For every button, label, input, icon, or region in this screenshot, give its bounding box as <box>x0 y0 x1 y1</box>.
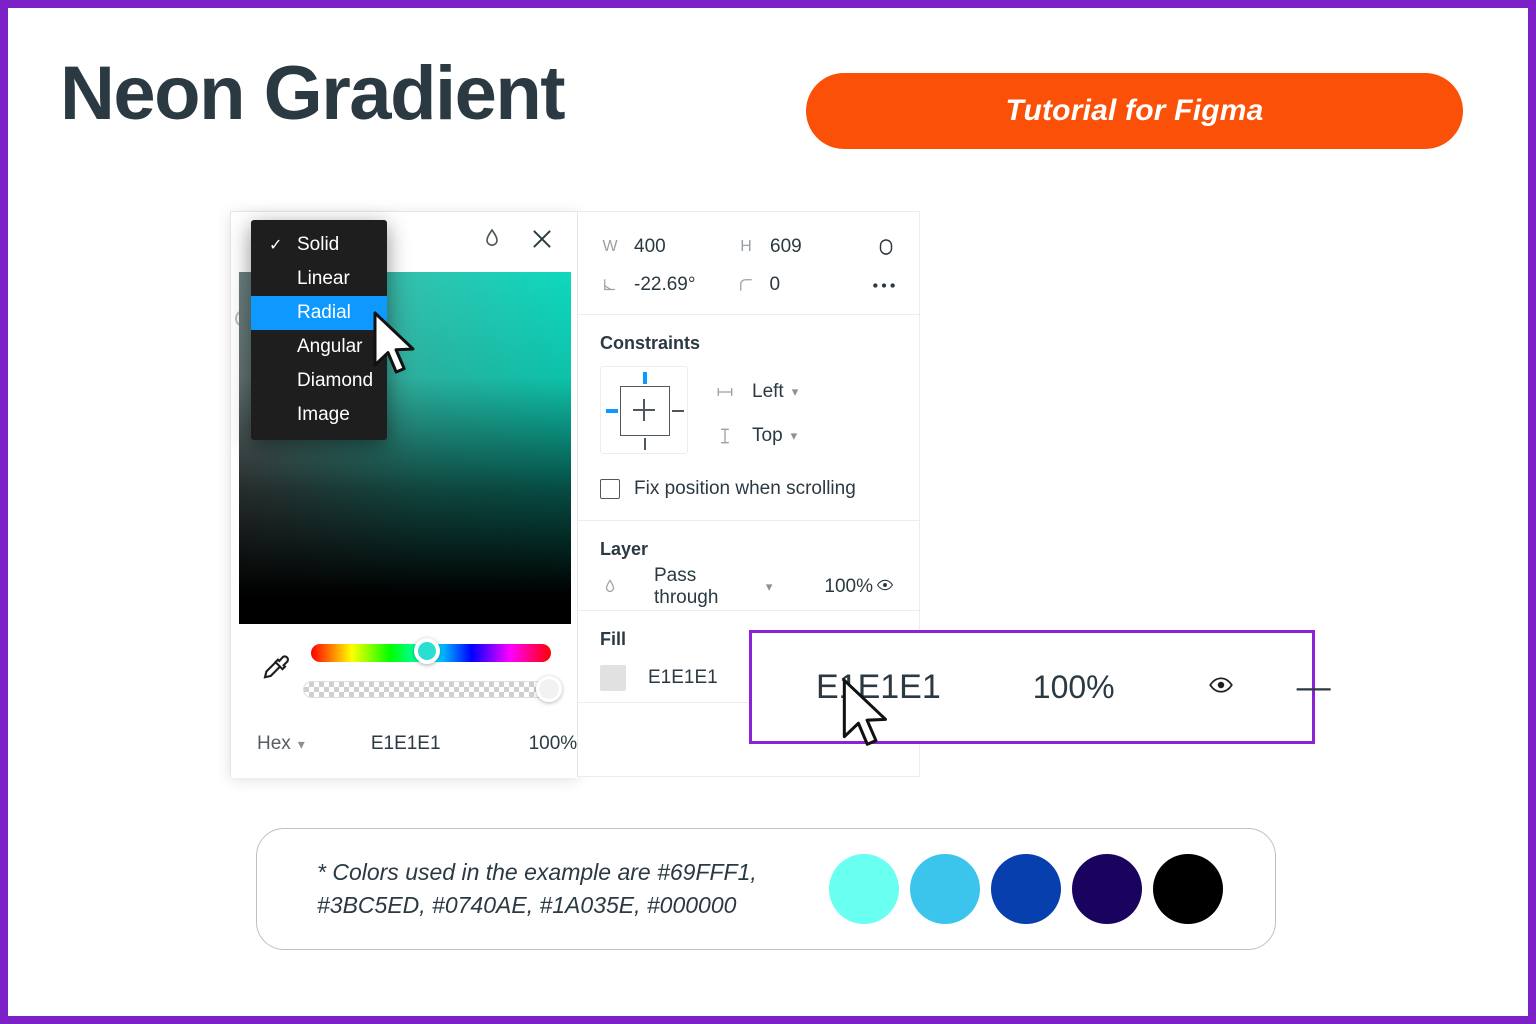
footnote-swatch-2 <box>910 854 980 924</box>
vertical-constraint-icon <box>714 426 736 446</box>
constraint-marker-right[interactable] <box>672 410 684 412</box>
header: Neon Gradient Tutorial for Figma <box>8 8 1528 188</box>
size-section: W 400 H 609 <box>578 212 919 315</box>
layer-title: Layer <box>578 521 919 564</box>
zoom-callout: E1E1E1 100% — <box>749 630 1315 744</box>
menu-item-image[interactable]: Image <box>251 398 387 432</box>
more-options-icon[interactable] <box>871 281 897 290</box>
rotation-row: -22.69° 0 <box>578 266 919 304</box>
corner-radius-icon <box>736 275 756 295</box>
color-picker-controls: Hex ▾ E1E1E1 100% <box>231 624 577 778</box>
alpha-slider-handle[interactable] <box>536 676 562 702</box>
eye-icon[interactable] <box>1203 672 1239 703</box>
fix-position-row[interactable]: Fix position when scrolling <box>578 474 919 520</box>
check-icon: ✓ <box>269 235 282 255</box>
fill-swatch[interactable] <box>600 665 626 691</box>
hue-slider-handle[interactable] <box>414 638 440 664</box>
constraints-body: Left ▾ Top ▾ <box>578 358 919 474</box>
mouse-cursor-icon <box>840 677 892 753</box>
rotation-icon <box>600 275 620 295</box>
width-icon: W <box>600 237 620 257</box>
fill-hex-value[interactable]: E1E1E1 <box>648 667 718 689</box>
constraint-marker-top[interactable] <box>643 372 647 384</box>
width-field[interactable]: W 400 <box>600 236 736 258</box>
height-value[interactable]: 609 <box>770 236 802 258</box>
eyedropper-icon[interactable] <box>261 652 291 684</box>
footnote-box: * Colors used in the example are #69FFF1… <box>256 828 1276 950</box>
menu-item-label: Angular <box>297 336 363 358</box>
droplet-icon[interactable] <box>480 224 504 252</box>
menu-item-label: Image <box>297 404 350 426</box>
hex-input-row: Hex ▾ E1E1E1 100% <box>231 724 577 764</box>
menu-item-angular[interactable]: Angular <box>251 330 387 364</box>
height-field[interactable]: H 609 <box>736 236 872 258</box>
constrain-proportions-icon[interactable] <box>875 236 897 258</box>
size-row: W 400 H 609 <box>578 228 919 266</box>
corner-radius-value[interactable]: 0 <box>770 274 781 296</box>
hex-value[interactable]: E1E1E1 <box>371 733 441 755</box>
alpha-slider[interactable] <box>303 681 551 698</box>
page-root: Neon Gradient Tutorial for Figma <box>0 0 1536 1024</box>
height-icon: H <box>736 237 756 257</box>
menu-item-solid[interactable]: ✓ Solid <box>251 228 387 262</box>
vertical-constraint-dropdown[interactable]: Top ▾ <box>714 414 798 458</box>
hex-mode-label[interactable]: Hex <box>257 733 291 755</box>
footnote-swatch-4 <box>1072 854 1142 924</box>
constraint-dropdowns: Left ▾ Top ▾ <box>714 366 798 458</box>
rotation-value[interactable]: -22.69° <box>634 274 695 296</box>
footnote-text: * Colors used in the example are #69FFF1… <box>317 856 817 921</box>
menu-item-radial[interactable]: Radial <box>251 296 387 330</box>
blend-mode-value[interactable]: Pass through <box>654 565 758 609</box>
layer-blend-row: Pass through ▾ 100% <box>578 564 919 610</box>
hex-opacity-value[interactable]: 100% <box>529 733 578 755</box>
tutorial-badge: Tutorial for Figma <box>806 73 1463 149</box>
rotation-field[interactable]: -22.69° <box>600 274 736 296</box>
layer-opacity-value[interactable]: 100% <box>824 576 873 598</box>
corner-radius-field[interactable]: 0 <box>736 274 872 296</box>
constraints-title: Constraints <box>578 315 919 358</box>
footnote-swatch-3 <box>991 854 1061 924</box>
blend-mode-icon <box>600 577 620 597</box>
menu-item-label: Diamond <box>297 370 373 392</box>
fix-position-checkbox[interactable] <box>600 479 620 499</box>
color-picker-panel: Hex ▾ E1E1E1 100% ✓ Solid Linear Radial <box>230 211 578 777</box>
tutorial-badge-label: Tutorial for Figma <box>1005 94 1263 128</box>
constraint-marker-left[interactable] <box>606 409 618 413</box>
eye-icon[interactable] <box>873 576 897 599</box>
footnote-swatch-1 <box>829 854 899 924</box>
width-value[interactable]: 400 <box>634 236 666 258</box>
minus-icon[interactable]: — <box>1297 670 1331 704</box>
callout-opacity-value[interactable]: 100% <box>1033 669 1115 706</box>
close-icon[interactable] <box>529 226 555 252</box>
gradient-type-menu[interactable]: ✓ Solid Linear Radial Angular Diamond Im… <box>251 220 387 440</box>
chevron-down-icon[interactable]: ▾ <box>298 736 305 753</box>
menu-item-label: Radial <box>297 302 351 324</box>
horizontal-constraint-icon <box>714 382 736 402</box>
constraints-widget[interactable] <box>600 366 688 454</box>
mouse-cursor-icon <box>371 310 419 380</box>
horizontal-constraint-value[interactable]: Left <box>752 381 784 403</box>
menu-item-label: Linear <box>297 268 350 290</box>
menu-item-diamond[interactable]: Diamond <box>251 364 387 398</box>
chevron-down-icon[interactable]: ▾ <box>792 384 799 400</box>
horizontal-constraint-dropdown[interactable]: Left ▾ <box>714 370 798 414</box>
chevron-down-icon[interactable]: ▾ <box>766 579 773 595</box>
constraints-center-icon <box>633 399 655 421</box>
footnote-swatches <box>829 854 1234 924</box>
layer-section: Layer Pass through ▾ 100% <box>578 521 919 611</box>
menu-item-label: Solid <box>297 234 339 256</box>
fix-position-label: Fix position when scrolling <box>634 478 856 500</box>
menu-item-linear[interactable]: Linear <box>251 262 387 296</box>
vertical-constraint-value[interactable]: Top <box>752 425 783 447</box>
chevron-down-icon[interactable]: ▾ <box>791 428 798 444</box>
constraints-section: Constraints <box>578 315 919 521</box>
constraint-marker-bottom[interactable] <box>644 438 646 450</box>
page-title: Neon Gradient <box>60 56 564 132</box>
footnote-swatch-5 <box>1153 854 1223 924</box>
